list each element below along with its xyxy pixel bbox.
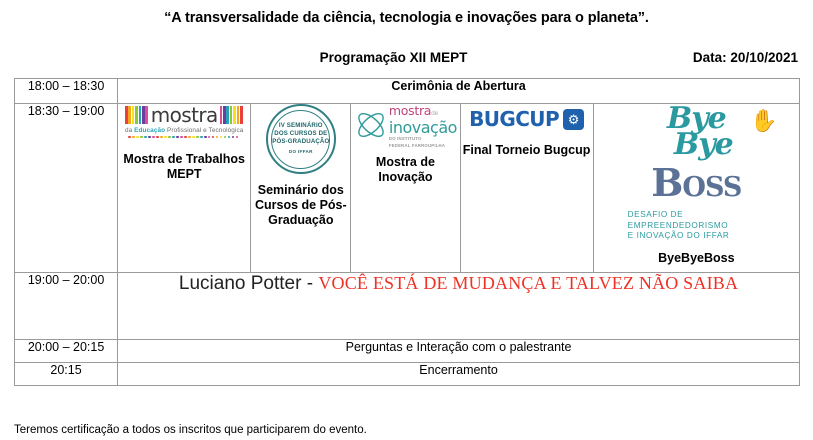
byebyeboss-logo: Bye Bye ✋ BOSS DESAFIO DE EMPREENDEDORIS… (594, 104, 799, 242)
inovacao-line-1: mostrade (389, 103, 438, 118)
waving-hand-icon: ✋ (750, 108, 776, 134)
speaker-name: Luciano Potter - (179, 273, 318, 294)
event-quote: “A transversalidade da ciência, tecnolog… (0, 10, 813, 26)
tagline-line-2: EMPREENDEDORISMO (628, 221, 799, 232)
seal-line-4: DO IFFAR (272, 148, 329, 156)
programme-page: “A transversalidade da ciência, tecnolog… (0, 0, 813, 440)
iv-seminario-seal-icon: IV SEMINÁRIO DOS CURSOS DE PÓS-GRADUAÇÃO… (266, 104, 336, 174)
boss-wordmark: BOSS (594, 163, 799, 208)
mostra-inovacao-logo: mostrade inovação DO INSTITUTO FEDERAL F… (351, 104, 459, 146)
table-row: 18:00 – 18:30 Cerimônia de Abertura (15, 79, 800, 104)
table-row: 18:30 – 19:00 mostra (15, 104, 800, 273)
mostra-wordmark: mostra (151, 105, 218, 125)
seal-line-3: PÓS-GRADUAÇÃO (272, 138, 329, 146)
inovacao-line-2: inovação (389, 120, 457, 135)
speaker-topic: VOCÊ ESTÁ DE MUDANÇA E TALVEZ NÃO SAIBA (318, 273, 738, 293)
tagline-line-3: E INOVAÇÃO DO IFFAR (628, 231, 799, 242)
mostra-dots-icon (122, 136, 246, 138)
activity-cell-inovacao: mostrade inovação DO INSTITUTO FEDERAL F… (351, 104, 460, 273)
mostra-bars-left-icon (125, 106, 149, 124)
schedule-table: 18:00 – 18:30 Cerimônia de Abertura 18:3… (14, 78, 800, 386)
activity-caption: ByeByeBoss (594, 251, 799, 266)
bug-badge-icon: ⚙ (563, 109, 584, 130)
time-cell: 18:30 – 19:00 (15, 104, 118, 273)
activity-cell-bugcup: BUGCUP ⚙ Final Torneio Bugcup (460, 104, 593, 273)
activity-cell-mostra-mept: mostra da Educação Profissional e Tecnol… (118, 104, 251, 273)
time-cell: 20:00 – 20:15 (15, 340, 118, 363)
mostra-logo: mostra da Educação Profissional e Tecnol… (122, 104, 246, 138)
table-row: 19:00 – 20:00 Luciano Potter - VOCÊ ESTÁ… (15, 273, 800, 340)
inovacao-line-3b: FEDERAL FARROUPILHA (389, 143, 457, 148)
time-cell: 20:15 (15, 363, 118, 386)
inovacao-line-3a: DO INSTITUTO (389, 136, 457, 141)
ceremony-label: Cerimônia de Abertura (118, 79, 800, 104)
activity-caption: Mostra de Inovação (351, 155, 459, 185)
activity-caption: Final Torneio Bugcup (461, 143, 593, 158)
closing-label: Encerramento (118, 363, 800, 386)
atom-swirl-icon (354, 108, 388, 142)
mostra-bars-right-icon (220, 106, 244, 124)
bugcup-wordmark: BUGCUP (469, 109, 559, 129)
table-row: 20:00 – 20:15 Perguntas e Interação com … (15, 340, 800, 363)
program-title: Programação XII MEPT (14, 50, 693, 65)
byebyeboss-tagline: DESAFIO DE EMPREENDEDORISMO E INOVAÇÃO D… (594, 210, 799, 242)
qa-label: Perguntas e Interação com o palestrante (118, 340, 800, 363)
bugcup-logo: BUGCUP ⚙ (461, 104, 593, 134)
byebye-script: Bye Bye ✋ (660, 106, 733, 158)
keynote-cell: Luciano Potter - VOCÊ ESTÁ DE MUDANÇA E … (118, 273, 800, 340)
time-cell: 19:00 – 20:00 (15, 273, 118, 340)
activity-cell-byebyeboss: Bye Bye ✋ BOSS DESAFIO DE EMPREENDEDORIS… (593, 104, 799, 273)
mostra-tagline: da Educação Profissional e Tecnológica (122, 127, 246, 134)
tagline-line-1: DESAFIO DE (628, 210, 799, 221)
activity-caption: Seminário dos Cursos de Pós-Graduação (251, 183, 350, 228)
seal-line-1: IV SEMINÁRIO (272, 122, 329, 130)
table-row: 20:15 Encerramento (15, 363, 800, 386)
subtitle-row: Programação XII MEPT Data: 20/10/2021 (14, 50, 800, 65)
certification-note: Teremos certificação a todos os inscrito… (14, 424, 367, 436)
time-cell: 18:00 – 18:30 (15, 79, 118, 104)
activity-caption: Mostra de Trabalhos MEPT (118, 152, 250, 182)
activity-cell-seminario: IV SEMINÁRIO DOS CURSOS DE PÓS-GRADUAÇÃO… (251, 104, 351, 273)
event-date: Data: 20/10/2021 (693, 50, 800, 65)
